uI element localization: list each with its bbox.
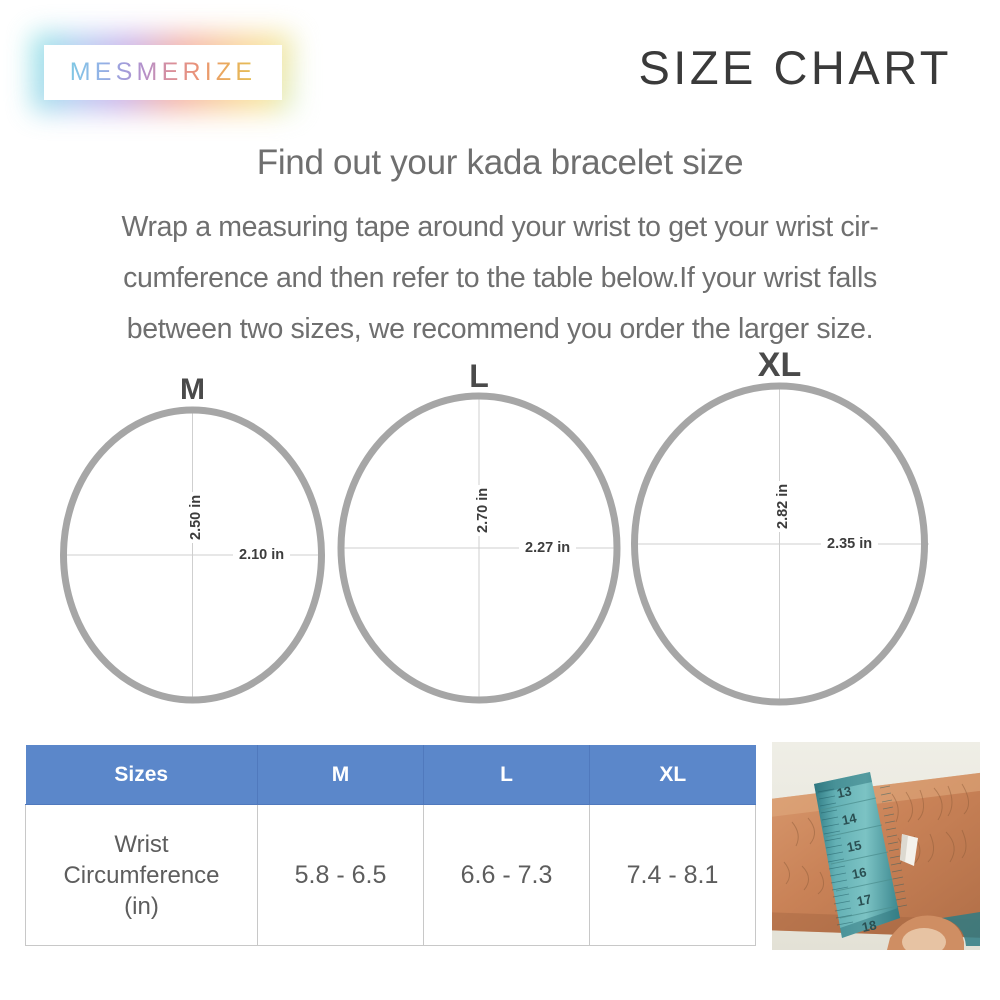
diagram-label-l: L — [334, 358, 624, 395]
tape-mark-17: 17 — [856, 891, 873, 909]
cell-wrist-xl: 7.4 - 8.1 — [590, 805, 756, 946]
diagram-width-m: 2.10 in — [233, 547, 290, 563]
row-label-line-2: Circumference — [63, 862, 219, 889]
page-title: SIZE CHART — [638, 40, 952, 95]
diagram-height-l: 2.70 in — [475, 485, 491, 536]
wrist-photo-illustration: 13 14 15 16 17 18 — [772, 742, 980, 950]
diagram-width-xl: 2.35 in — [821, 536, 878, 552]
page-header: MESMERIZE SIZE CHART — [0, 0, 1000, 125]
subtitle: Find out your kada bracelet size — [0, 143, 1000, 183]
diagram-label-xl: XL — [627, 346, 932, 385]
table-header-l: L — [424, 745, 590, 805]
cell-wrist-m: 5.8 - 6.5 — [258, 805, 424, 946]
row-label-line-1: Wrist — [114, 831, 168, 858]
diagram-height-m: 2.50 in — [188, 492, 204, 543]
intro-line-2: cumference and then refer to the table b… — [50, 253, 950, 304]
bracelet-diagram-l: L 2.70 in 2.27 in — [334, 360, 624, 735]
intro-line-1: Wrap a measuring tape around your wrist … — [50, 202, 950, 253]
brand-name: MESMERIZE — [70, 58, 256, 87]
tape-mark-15: 15 — [846, 837, 863, 855]
oval-shape-xl — [627, 348, 932, 738]
table-header-m: M — [258, 745, 424, 805]
table-header-sizes: Sizes — [26, 745, 258, 805]
brand-logo: MESMERIZE — [44, 45, 282, 100]
diagram-height-xl: 2.82 in — [775, 481, 791, 532]
size-table: Sizes M L XL Wrist Circumference (in) 5.… — [25, 745, 756, 946]
tape-mark-13: 13 — [836, 783, 853, 801]
diagram-label-m: M — [55, 373, 330, 407]
wrist-measuring-photo: 13 14 15 16 17 18 — [772, 742, 980, 950]
tape-mark-16: 16 — [851, 864, 868, 882]
intro-paragraph: Wrap a measuring tape around your wrist … — [50, 202, 950, 355]
tape-mark-18: 18 — [861, 917, 878, 935]
table-row: Wrist Circumference (in) 5.8 - 6.5 6.6 -… — [26, 805, 756, 946]
bracelet-diagram-m: M 2.50 in 2.10 in — [55, 375, 330, 735]
bracelet-diagram-xl: XL 2.82 in 2.35 in — [627, 348, 932, 738]
bracelet-diagrams: M 2.50 in 2.10 in L 2.70 in 2.27 in XL 2… — [0, 345, 1000, 735]
logo-box: MESMERIZE — [44, 45, 282, 100]
table-header-row: Sizes M L XL — [26, 745, 756, 805]
cell-wrist-l: 6.6 - 7.3 — [424, 805, 590, 946]
row-label-line-3: (in) — [124, 893, 159, 920]
row-label-wrist-circumference: Wrist Circumference (in) — [26, 805, 258, 946]
table-header-xl: XL — [590, 745, 756, 805]
oval-shape-l — [334, 360, 624, 735]
diagram-width-l: 2.27 in — [519, 540, 576, 556]
